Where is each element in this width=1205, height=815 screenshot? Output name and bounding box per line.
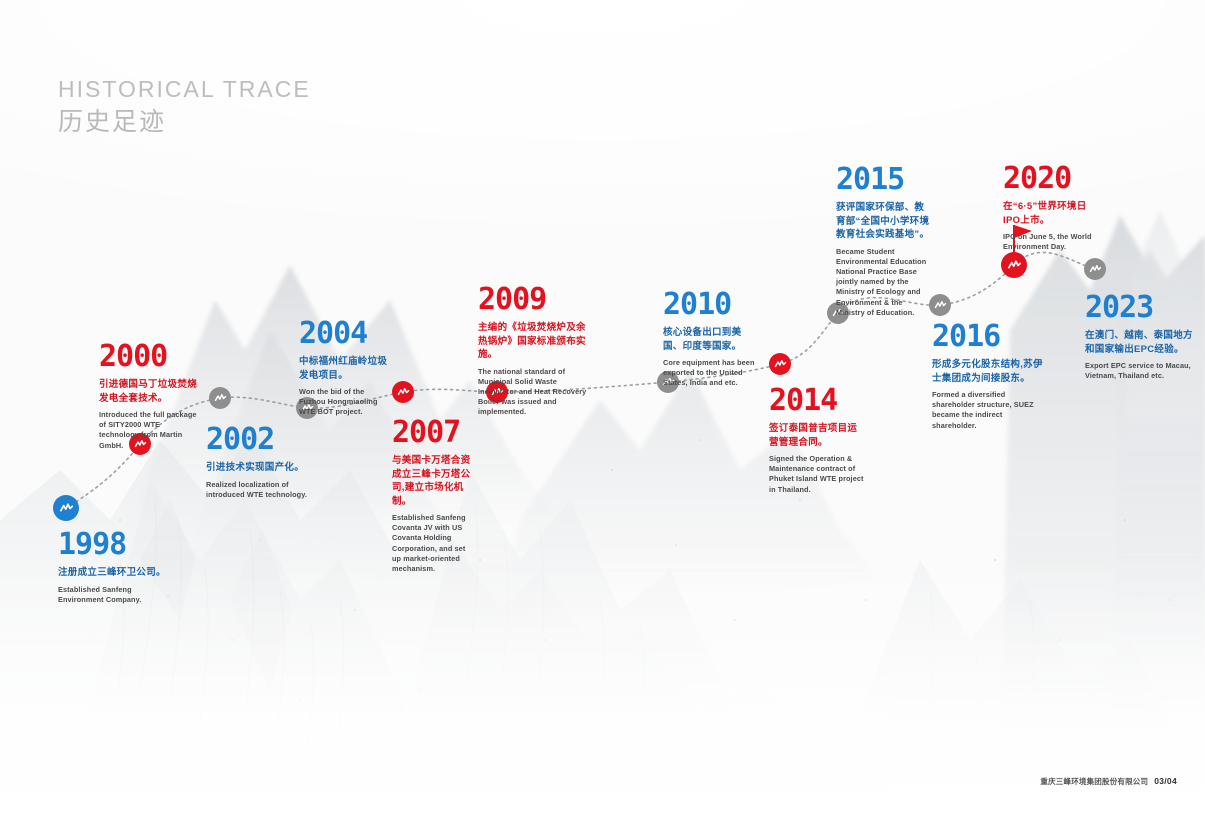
entry-year-label: 2010 (663, 290, 759, 320)
entry-year-label: 2020 (1003, 164, 1103, 194)
timeline-marker-2007[interactable] (392, 381, 414, 403)
timeline-entry-2010: 2010核心设备出口到美国、印度等国家。Core equipment has b… (663, 290, 759, 389)
timeline-entry-2004: 2004中标福州红庙岭垃圾发电项目。Won the bid of the Fuz… (299, 319, 391, 418)
page-title-cn: 历史足迹 (58, 106, 311, 138)
entry-description-en: Export EPC service to Macau, Vietnam, Th… (1085, 361, 1193, 381)
timeline-entry-2023: 2023在澳门、越南、泰国地方和国家输出EPC经验。Export EPC ser… (1085, 293, 1193, 381)
entry-year-label: 2015 (836, 165, 930, 195)
entry-year-label: 2007 (392, 418, 472, 448)
entry-description-en: Established Sanfeng Environment Company. (58, 585, 170, 605)
timeline-marker-1998[interactable] (53, 495, 79, 521)
entry-year-label: 2016 (932, 322, 1048, 352)
entry-description-cn: 在“6·5”世界环境日IPO上市。 (1003, 200, 1103, 227)
page-title-en: HISTORICAL TRACE (58, 74, 311, 104)
entry-description-cn: 签订泰国普吉项目运营管理合同。 (769, 422, 865, 449)
timeline-entry-2009: 2009主编的《垃圾焚烧炉及余热锅炉》国家标准颁布实施。The national… (478, 285, 590, 418)
footer-company-name: 重庆三峰环境集团股份有限公司 (1040, 776, 1148, 787)
entry-year-label: 2014 (769, 386, 865, 416)
timeline-marker-2020[interactable] (1001, 252, 1027, 278)
entry-description-cn: 注册成立三峰环卫公司。 (58, 566, 170, 580)
timeline-entry-2015: 2015获评国家环保部、教育部“全国中小学环境教育社会实践基地”。Became … (836, 165, 930, 318)
entry-description-cn: 引进德国马丁垃圾焚烧发电全套技术。 (99, 378, 199, 405)
entry-description-cn: 引进技术实现国产化。 (206, 461, 316, 475)
entry-description-en: Formed a diversified shareholder structu… (932, 390, 1048, 431)
timeline-marker-2014[interactable] (769, 353, 791, 375)
entry-description-cn: 主编的《垃圾焚烧炉及余热锅炉》国家标准颁布实施。 (478, 321, 590, 362)
timeline-marker-2016[interactable] (929, 294, 951, 316)
entry-description-en: IPO on June 5, the World Environment Day… (1003, 232, 1103, 252)
timeline-marker-2002[interactable] (209, 387, 231, 409)
timeline-entry-2014: 2014签订泰国普吉项目运营管理合同。Signed the Operation … (769, 386, 865, 495)
timeline-entry-2002: 2002引进技术实现国产化。Realized localization of i… (206, 425, 316, 500)
entry-description-en: Signed the Operation & Maintenance contr… (769, 454, 865, 495)
entry-year-label: 2004 (299, 319, 391, 349)
timeline-entry-2016: 2016形成多元化股东结构,苏伊士集团成为间接股东。Formed a diver… (932, 322, 1048, 431)
entry-year-label: 2009 (478, 285, 590, 315)
entry-description-en: Won the bid of the Fuzhou Hongmiaoling W… (299, 387, 391, 418)
entry-description-en: Realized localization of introduced WTE … (206, 480, 316, 500)
timeline-entry-1998: 1998注册成立三峰环卫公司。Established Sanfeng Envir… (58, 530, 170, 605)
timeline-marker-2023[interactable] (1084, 258, 1106, 280)
entry-year-label: 2023 (1085, 293, 1193, 323)
entry-description-en: The national standard of Municipal Solid… (478, 367, 590, 418)
entry-description-en: Core equipment has been exported to the … (663, 358, 759, 389)
entry-year-label: 2002 (206, 425, 316, 455)
entry-description-en: Became Student Environmental Education N… (836, 247, 930, 318)
entry-description-cn: 中标福州红庙岭垃圾发电项目。 (299, 355, 391, 382)
footer-page-number: 03/04 (1154, 776, 1177, 786)
timeline-entry-2007: 2007与美国卡万塔合资成立三峰卡万塔公司,建立市场化机制。Establishe… (392, 418, 472, 574)
entry-description-cn: 与美国卡万塔合资成立三峰卡万塔公司,建立市场化机制。 (392, 454, 472, 508)
entry-year-label: 1998 (58, 530, 170, 560)
entry-description-cn: 在澳门、越南、泰国地方和国家输出EPC经验。 (1085, 329, 1193, 356)
entry-description-cn: 核心设备出口到美国、印度等国家。 (663, 326, 759, 353)
page-footer: 重庆三峰环境集团股份有限公司 03/04 (1040, 776, 1177, 787)
entry-description-en: Introduced the full package of SITY2000 … (99, 410, 199, 451)
timeline-entry-2000: 2000引进德国马丁垃圾焚烧发电全套技术。Introduced the full… (99, 342, 199, 451)
entry-description-en: Established Sanfeng Covanta JV with US C… (392, 513, 472, 574)
entry-description-cn: 获评国家环保部、教育部“全国中小学环境教育社会实践基地”。 (836, 201, 930, 242)
entry-description-cn: 形成多元化股东结构,苏伊士集团成为间接股东。 (932, 358, 1048, 385)
page-header: HISTORICAL TRACE 历史足迹 (58, 74, 311, 138)
entry-year-label: 2000 (99, 342, 199, 372)
timeline-entry-2020: 2020在“6·5”世界环境日IPO上市。IPO on June 5, the … (1003, 164, 1103, 252)
